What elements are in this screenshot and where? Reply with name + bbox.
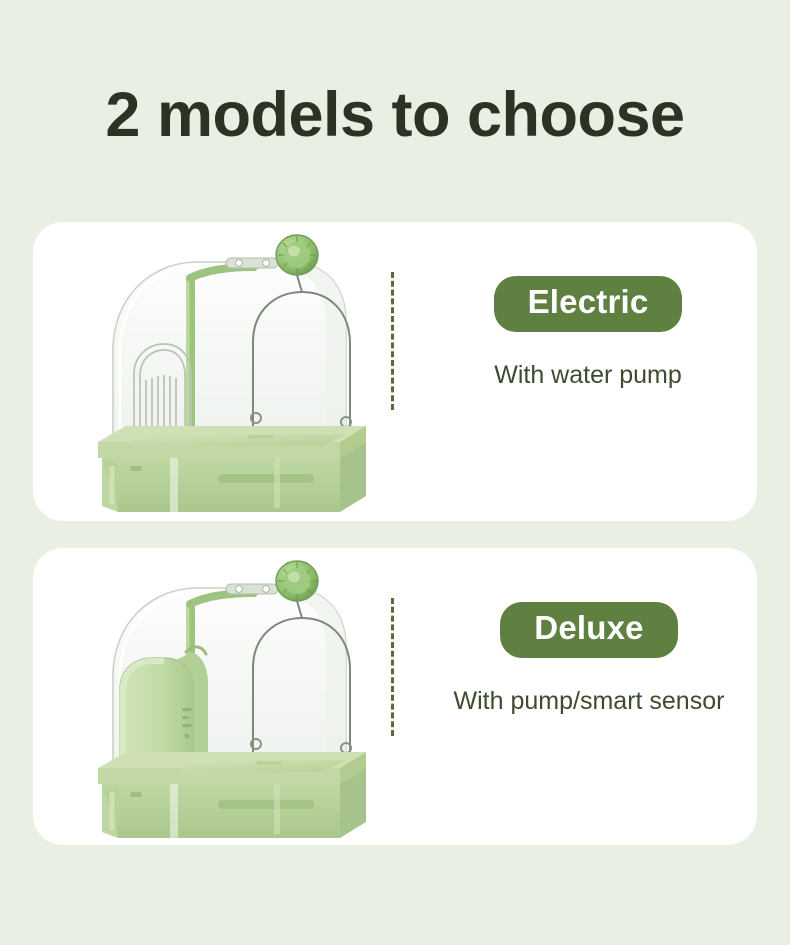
subtitle-electric: With water pump <box>433 360 743 390</box>
subtitle-deluxe: With pump/smart sensor <box>415 686 763 716</box>
model-info-electric: Electric With water pump <box>433 276 743 390</box>
model-card-electric[interactable]: Electric With water pump <box>33 222 757 521</box>
dashed-divider <box>391 598 394 736</box>
product-image-deluxe <box>78 556 398 841</box>
product-image-electric <box>78 230 398 515</box>
knob-dial <box>276 561 318 601</box>
badge-deluxe[interactable]: Deluxe <box>500 602 677 658</box>
dashed-divider <box>391 272 394 410</box>
knob-dial <box>276 235 318 275</box>
model-info-deluxe: Deluxe With pump/smart sensor <box>415 602 763 716</box>
model-card-deluxe[interactable]: Deluxe With pump/smart sensor <box>33 548 757 845</box>
page-title: 2 models to choose <box>0 84 790 147</box>
badge-electric[interactable]: Electric <box>494 276 683 332</box>
